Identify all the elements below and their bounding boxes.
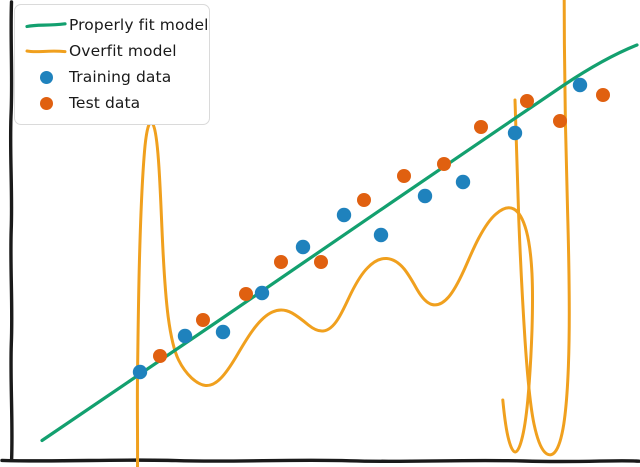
test-data-point	[553, 114, 567, 128]
legend-label-overfit-model: Overfit model	[69, 42, 177, 60]
legend-line-swatch-orange	[23, 46, 69, 56]
test-data-point	[397, 169, 411, 183]
left-spine	[11, 2, 12, 460]
test-data-point	[153, 349, 167, 363]
test-data-point	[437, 157, 451, 171]
training-data-point	[216, 325, 230, 339]
overfit-line	[137, 123, 532, 467]
training-data-point	[456, 175, 470, 189]
legend-dot-swatch-blue	[23, 71, 69, 84]
test-data-point	[474, 120, 488, 134]
training-data-point	[296, 240, 310, 254]
figure-canvas: Properly fit model Overfit model Trainin…	[0, 0, 640, 467]
test-data-point	[239, 287, 253, 301]
legend-label-properly-fit-model: Properly fit model	[69, 16, 209, 34]
training-data-point	[508, 126, 522, 140]
legend-entry-properly-fit-model: Properly fit model	[23, 12, 201, 38]
legend-entry-overfit-model: Overfit model	[23, 38, 201, 64]
test-data-point	[196, 313, 210, 327]
test-data-point	[314, 255, 328, 269]
legend-entry-test-data: Test data	[23, 90, 201, 116]
test-data-point	[596, 88, 610, 102]
overfit-line-right	[515, 0, 569, 455]
legend-entry-training-data: Training data	[23, 64, 201, 90]
training-data-point	[573, 78, 587, 92]
overfit-model-curve	[137, 123, 532, 467]
chart-legend: Properly fit model Overfit model Trainin…	[14, 4, 210, 125]
training-data-point	[255, 286, 269, 300]
training-data-point	[374, 228, 388, 242]
test-data-point	[274, 255, 288, 269]
legend-label-training-data: Training data	[69, 68, 171, 86]
training-data-point	[133, 365, 147, 379]
test-data-point	[520, 94, 534, 108]
training-data-point	[418, 189, 432, 203]
legend-label-test-data: Test data	[69, 94, 140, 112]
legend-line-swatch-green	[23, 20, 69, 30]
test-data-points	[153, 88, 610, 363]
bottom-spine	[2, 460, 639, 462]
overfit-model-right-branch	[515, 0, 569, 455]
training-data-point	[337, 208, 351, 222]
legend-dot-swatch-orange	[23, 97, 69, 110]
training-data-point	[178, 329, 192, 343]
test-data-point	[357, 193, 371, 207]
